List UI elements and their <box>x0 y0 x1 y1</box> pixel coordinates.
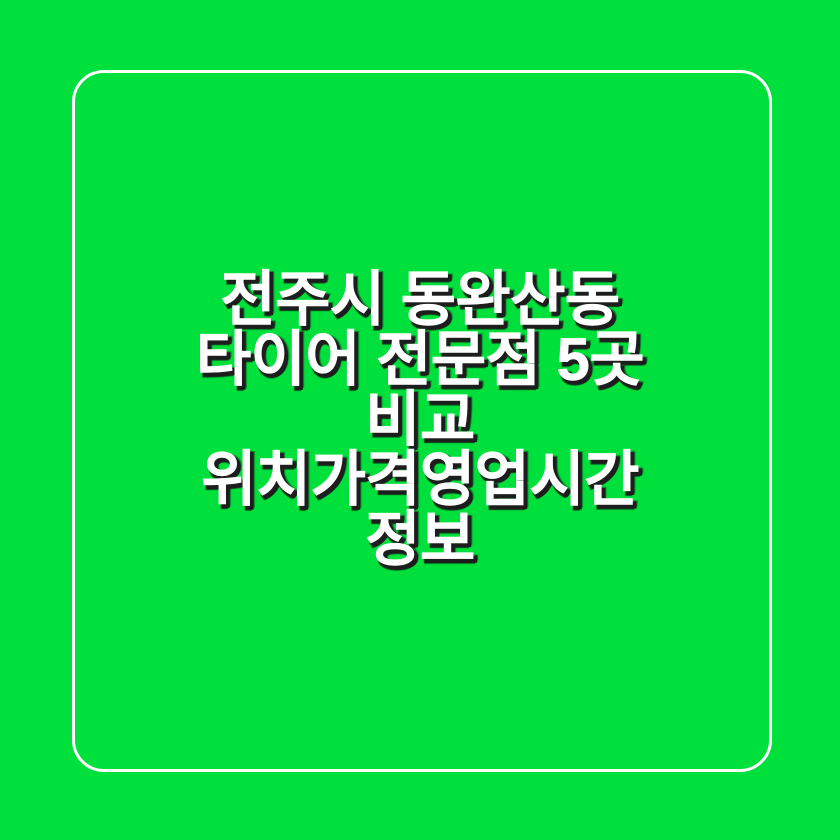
title-line-5: 정보 <box>0 510 840 570</box>
title-line-3: 비교 <box>0 390 840 450</box>
thumbnail-canvas: 전주시 동완산동 타이어 전문점 5곳 비교 위치가격영업시간 정보 <box>0 0 840 840</box>
title-line-2: 타이어 전문점 5곳 <box>0 330 840 390</box>
title-line-1: 전주시 동완산동 <box>0 270 840 330</box>
title-line-4: 위치가격영업시간 <box>0 450 840 510</box>
title-block: 전주시 동완산동 타이어 전문점 5곳 비교 위치가격영업시간 정보 <box>0 0 840 840</box>
